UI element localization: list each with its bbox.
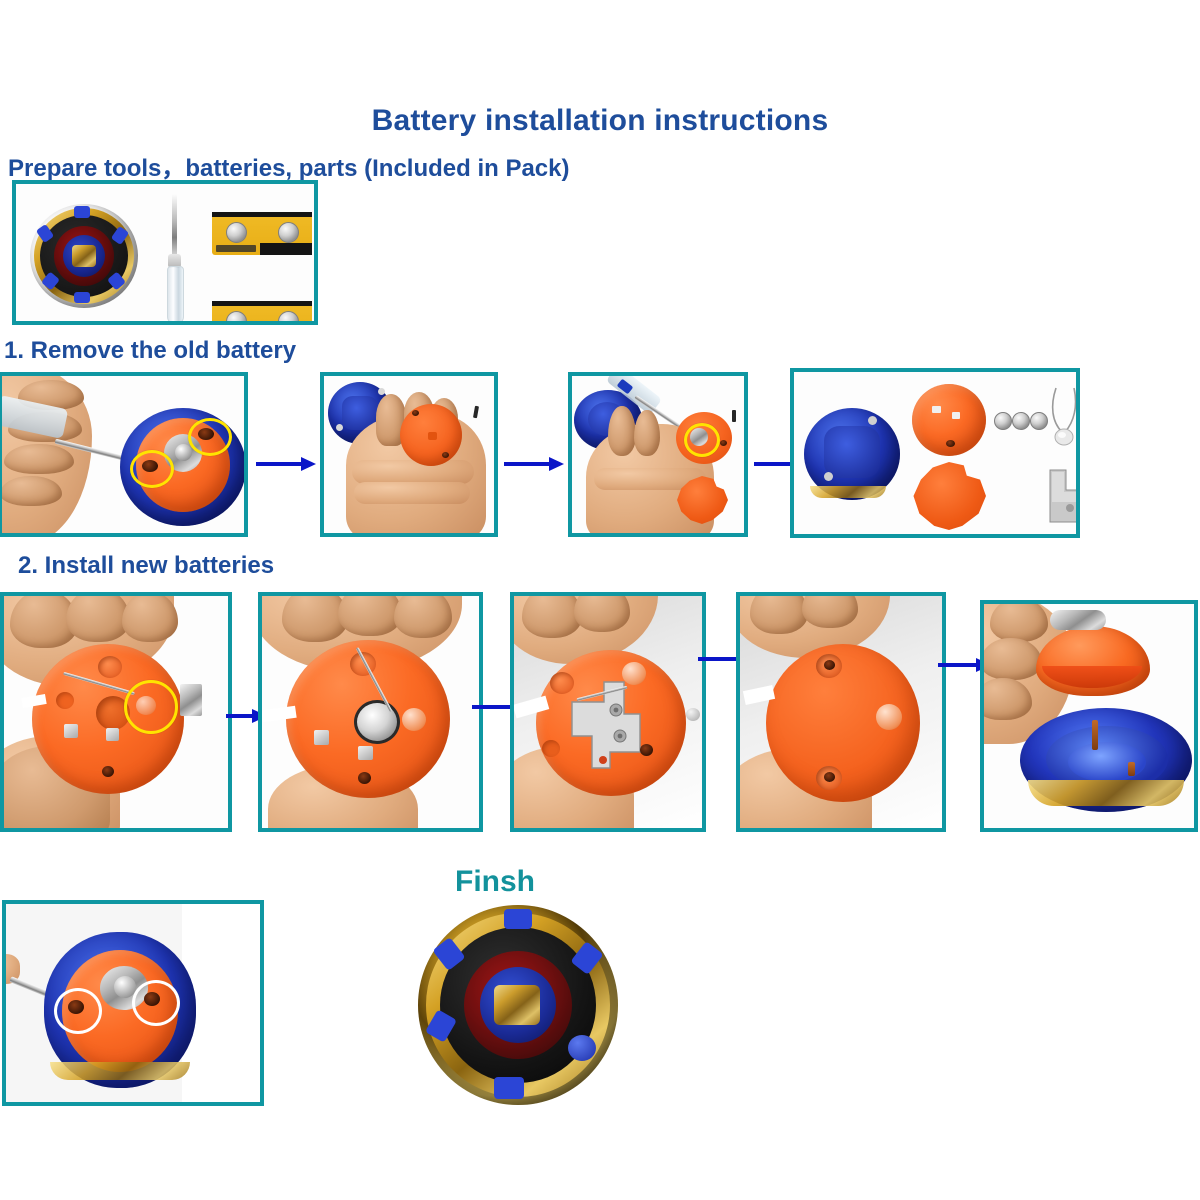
step1-photo-2 <box>324 376 494 533</box>
step2-panel-3 <box>510 592 706 832</box>
step1-panel-3 <box>568 372 748 537</box>
step1-photo-3 <box>572 376 744 533</box>
step1-panel-2 <box>320 372 498 537</box>
step1-arrow-1 <box>256 457 316 471</box>
step2-panel-1 <box>0 592 232 832</box>
finished-spinning-top <box>418 905 618 1105</box>
page-title: Battery installation instructions <box>0 104 1200 138</box>
highlight-circle-right <box>132 980 180 1026</box>
step1-photo-1 <box>2 376 244 533</box>
step2-panel-5 <box>980 600 1198 832</box>
beyblade-spinning-top <box>30 204 138 308</box>
step2-photo-2 <box>262 596 479 828</box>
highlight-circle-right <box>188 418 232 456</box>
screwdriver <box>164 192 186 321</box>
step2-photo-1 <box>4 596 228 828</box>
step1-photo-4-exploded-parts <box>794 372 1076 534</box>
highlight-circle-led <box>124 680 178 734</box>
part-button-cell <box>994 412 1012 430</box>
step2-photo-4 <box>740 596 942 828</box>
final-screw-photo <box>6 904 260 1102</box>
battery-blister-packs <box>212 212 314 302</box>
prepare-section-title: Prepare tools，batteries, parts (Included… <box>8 148 570 183</box>
final-screw-panel <box>2 900 264 1106</box>
finish-label: Finsh <box>455 865 535 899</box>
highlight-circle-left <box>130 450 174 488</box>
metal-contact-bracket <box>570 680 654 774</box>
step2-photo-5 <box>984 604 1194 828</box>
step1-title: 1. Remove the old battery <box>4 337 296 365</box>
part-button-cell <box>1012 412 1030 430</box>
step1-arrow-2 <box>504 457 564 471</box>
step2-photo-3 <box>514 596 702 828</box>
part-orange-plate <box>912 462 986 530</box>
prepare-photo <box>16 184 314 321</box>
step2-panel-4 <box>736 592 946 832</box>
installed-button-cell <box>354 700 400 744</box>
step2-title: 2. Install new batteries <box>18 552 274 580</box>
highlight-circle-left <box>54 988 102 1034</box>
instruction-sheet: Battery installation instructions Prepar… <box>0 0 1200 1200</box>
prepare-tools-panel <box>12 180 318 325</box>
part-metal-contact <box>1044 468 1076 526</box>
step2-panel-2 <box>258 592 483 832</box>
step1-panel-1 <box>0 372 248 537</box>
part-led-wire <box>1048 384 1076 450</box>
step1-panel-4 <box>790 368 1080 538</box>
part-button-cell <box>1030 412 1048 430</box>
